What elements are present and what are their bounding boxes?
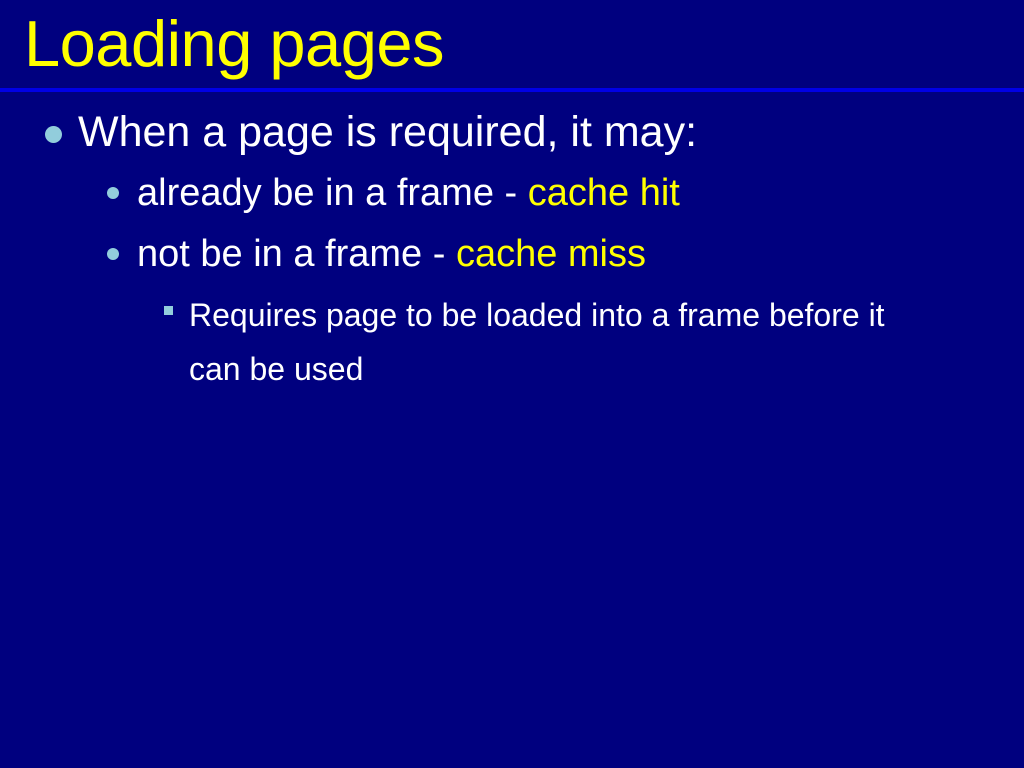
slide: Loading pages When a page is required, i… <box>0 0 1024 768</box>
bullet-item-level1: When a page is required, it may: <box>0 102 1024 162</box>
square-bullet-icon <box>164 306 173 315</box>
round-bullet-icon <box>107 187 119 199</box>
bullet-item-level2-cache-hit: already be in a frame - cache hit <box>0 164 1024 223</box>
round-bullet-icon <box>45 126 62 143</box>
bullet-text: When a page is required, it may: <box>78 102 1024 162</box>
bullet-text: already be in a frame - cache hit <box>137 164 1024 223</box>
title-divider <box>0 88 1024 92</box>
bullet-text: Requires page to be loaded into a frame … <box>189 288 889 396</box>
bullet-item-level2-cache-miss: not be in a frame - cache miss <box>0 225 1024 284</box>
page-title: Loading pages <box>24 6 1000 82</box>
bullet-text-plain: already be in a frame - <box>137 172 528 214</box>
round-bullet-icon <box>107 248 119 260</box>
bullet-text-plain: not be in a frame - <box>137 233 456 275</box>
slide-body: When a page is required, it may: already… <box>0 98 1024 396</box>
bullet-text-highlight: cache hit <box>528 172 680 214</box>
bullet-text-highlight: cache miss <box>456 233 646 275</box>
bullet-text: not be in a frame - cache miss <box>137 225 1024 284</box>
bullet-item-level3: Requires page to be loaded into a frame … <box>0 288 1024 396</box>
